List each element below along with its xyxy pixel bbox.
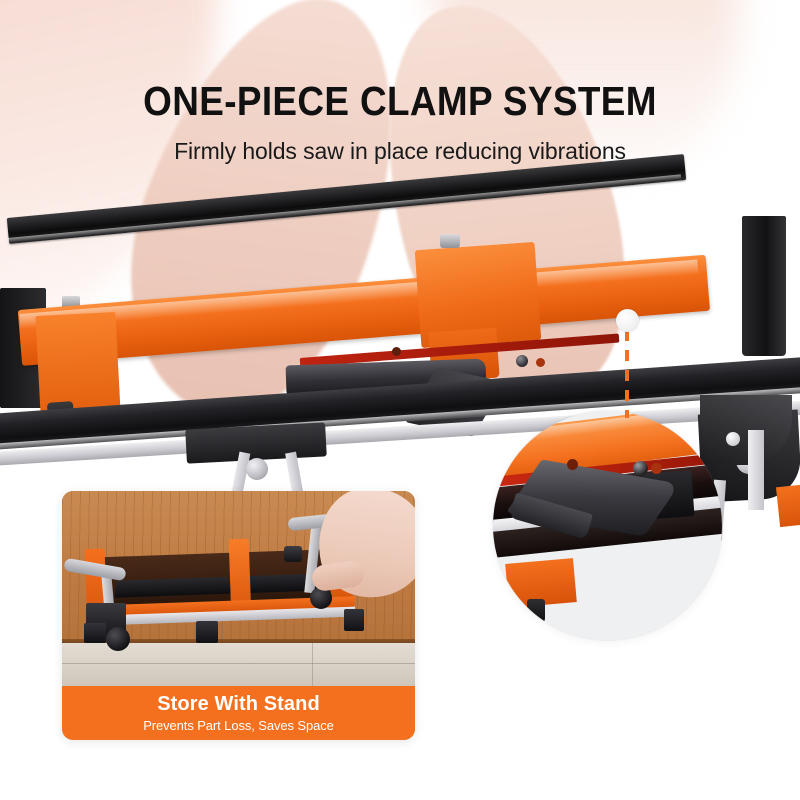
header-block: ONE-PIECE CLAMP SYSTEM Firmly holds saw … [0, 78, 800, 165]
callout-marker-dot [616, 309, 639, 332]
folded-stand-foot-middle [196, 621, 218, 643]
storage-caption-banner: Store With Stand Prevents Part Loss, Sav… [62, 686, 415, 740]
clamp-bolt-c [536, 358, 545, 367]
folded-stand-wheel-left [106, 627, 130, 651]
clamp-left-plate [35, 312, 120, 416]
detail-bolt-b [633, 461, 648, 476]
clamp-bolt-a [392, 347, 401, 356]
storage-feature-card: Store With Stand Prevents Part Loss, Sav… [62, 491, 415, 740]
clamp-right-bolt [440, 234, 460, 248]
clamp-bolt-b [516, 355, 528, 367]
product-feature-image: ONE-PIECE CLAMP SYSTEM Firmly holds saw … [0, 0, 800, 800]
magnifier-callout-circle [493, 411, 722, 640]
orange-corner-tab [776, 485, 800, 527]
detail-bolt-a [567, 459, 578, 470]
floor-grout-line-vertical [312, 643, 313, 686]
callout-dashed-connector [625, 330, 629, 418]
storage-caption-subtitle: Prevents Part Loss, Saves Space [143, 718, 334, 734]
floor-grout-line-horizontal [62, 663, 415, 664]
detail-bolt-c [651, 463, 662, 474]
storage-caption-title: Store With Stand [157, 693, 320, 716]
folded-stand-knob [284, 546, 302, 562]
page-title: ONE-PIECE CLAMP SYSTEM [40, 78, 760, 124]
magnifier-contents [493, 411, 722, 640]
folded-stand-foot-right [344, 609, 364, 631]
background-stand-post [748, 430, 764, 510]
detail-lower-foot [527, 599, 545, 625]
folded-stand-foot-left [84, 623, 106, 643]
stand-knob [246, 458, 268, 480]
right-vertical-post [742, 216, 786, 356]
storage-photo [62, 491, 415, 686]
page-subtitle: Firmly holds saw in place reducing vibra… [0, 137, 800, 165]
background-stand-knob [726, 432, 740, 446]
